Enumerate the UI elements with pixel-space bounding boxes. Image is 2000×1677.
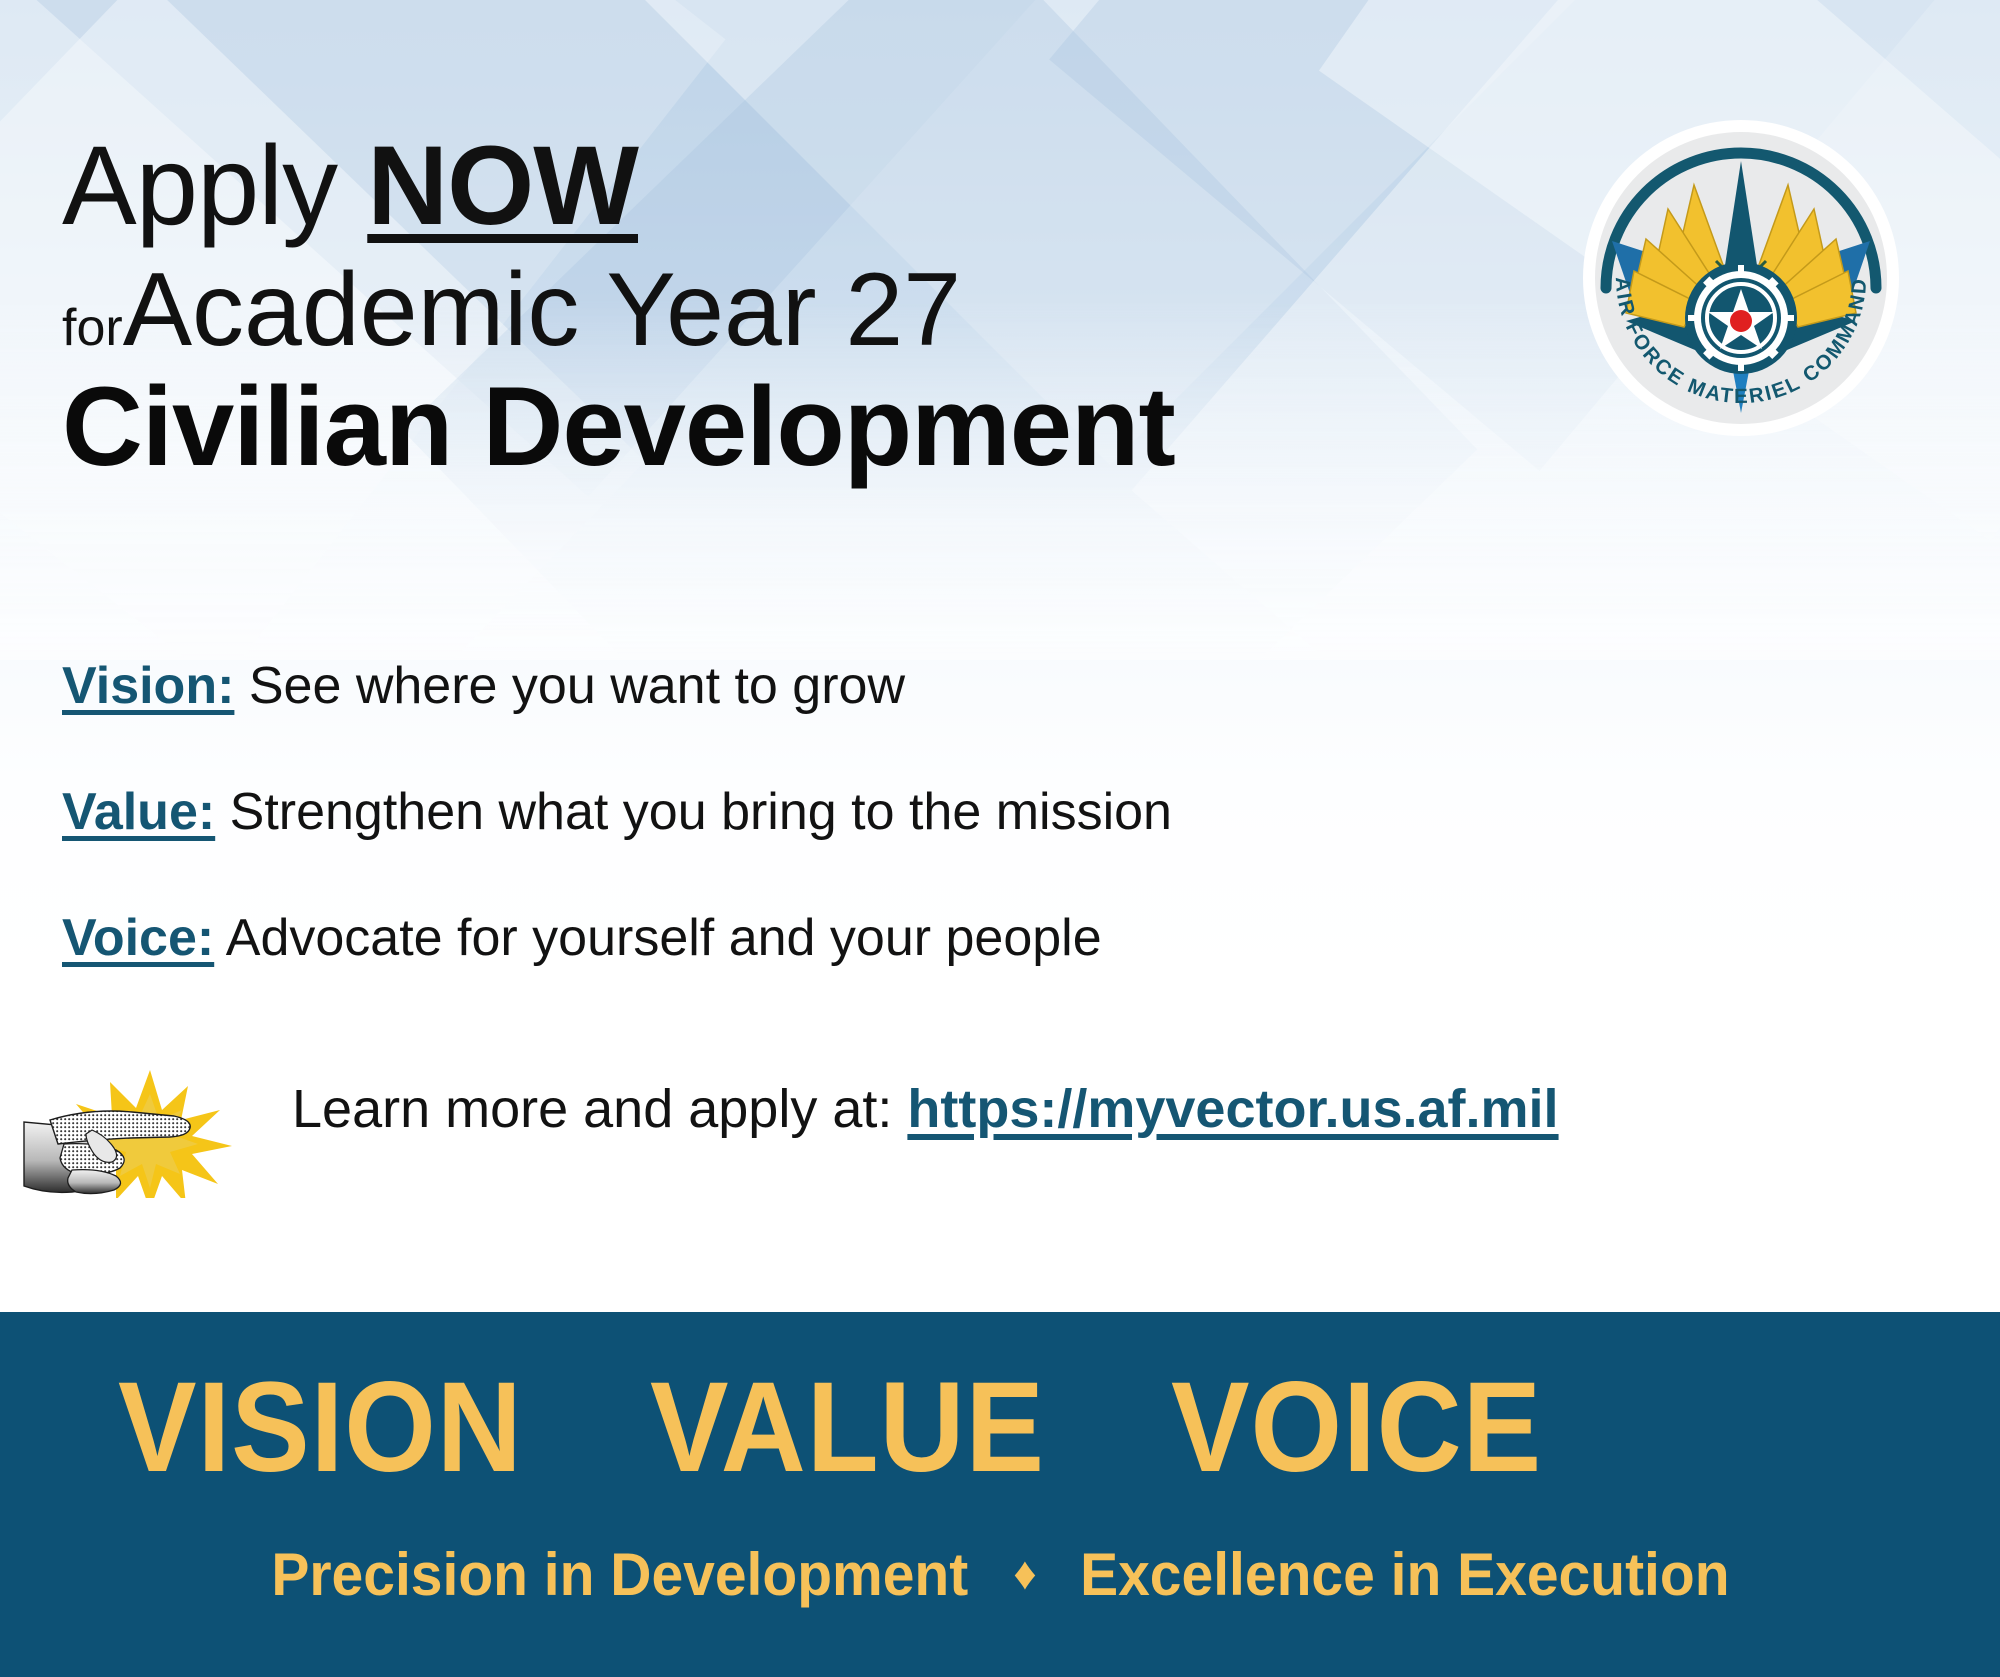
vision-text: See where you want to grow — [234, 657, 905, 715]
program-title: Civilian Development — [62, 368, 1542, 486]
afmc-seal-icon: AIR FORCE MATERIEL COMMAND — [1576, 113, 1906, 443]
banner-word-voice: VOICE — [1171, 1364, 1542, 1492]
pointing-hand-starburst-icon — [20, 1058, 270, 1198]
poster-canvas: Apply NOW forAcademic Year 27 Civilian D… — [0, 0, 2000, 1677]
tagline-left: Precision in Development — [272, 1540, 969, 1609]
value-label: Value: — [62, 783, 215, 841]
academic-year-line: forAcademic Year 27 — [62, 258, 1542, 362]
banner-word-value: VALUE — [650, 1364, 1045, 1492]
apply-now-emphasis: NOW — [367, 123, 638, 248]
for-label: for — [62, 299, 123, 357]
tagline-right: Excellence in Execution — [1080, 1540, 1729, 1609]
bottom-banner: VISION VALUE VOICE Precision in Developm… — [0, 1312, 2000, 1677]
value-row-value: Value: Strengthen what you bring to the … — [62, 786, 1762, 838]
value-list: Vision: See where you want to grow Value… — [62, 660, 1762, 1038]
apply-prefix-text: Apply — [62, 123, 367, 248]
headline-block: Apply NOW forAcademic Year 27 Civilian D… — [62, 130, 1542, 486]
value-text: Strengthen what you bring to the mission — [215, 783, 1172, 841]
afmc-seal: AIR FORCE MATERIEL COMMAND — [1576, 113, 1906, 443]
apply-prompt: Learn more and apply at: — [292, 1079, 907, 1139]
banner-word-vision: VISION — [118, 1364, 523, 1492]
vision-label: Vision: — [62, 657, 234, 715]
banner-tagline: Precision in Development ♦ Excellence in… — [0, 1540, 2000, 1609]
value-row-voice: Voice: Advocate for yourself and your pe… — [62, 912, 1762, 964]
academic-year-text: Academic Year 27 — [123, 252, 961, 368]
voice-text: Advocate for yourself and your people — [214, 909, 1101, 967]
apply-cta-row: Learn more and apply at: https://myvecto… — [20, 1058, 1980, 1208]
diamond-separator-icon: ♦ — [991, 1547, 1058, 1599]
value-row-vision: Vision: See where you want to grow — [62, 660, 1762, 712]
apply-text-line: Learn more and apply at: https://myvecto… — [292, 1082, 1559, 1136]
apply-now-line: Apply NOW — [62, 130, 1542, 242]
myvector-url-link[interactable]: https://myvector.us.af.mil — [907, 1079, 1558, 1139]
banner-word-row: VISION VALUE VOICE — [0, 1364, 2000, 1492]
voice-label: Voice: — [62, 909, 214, 967]
